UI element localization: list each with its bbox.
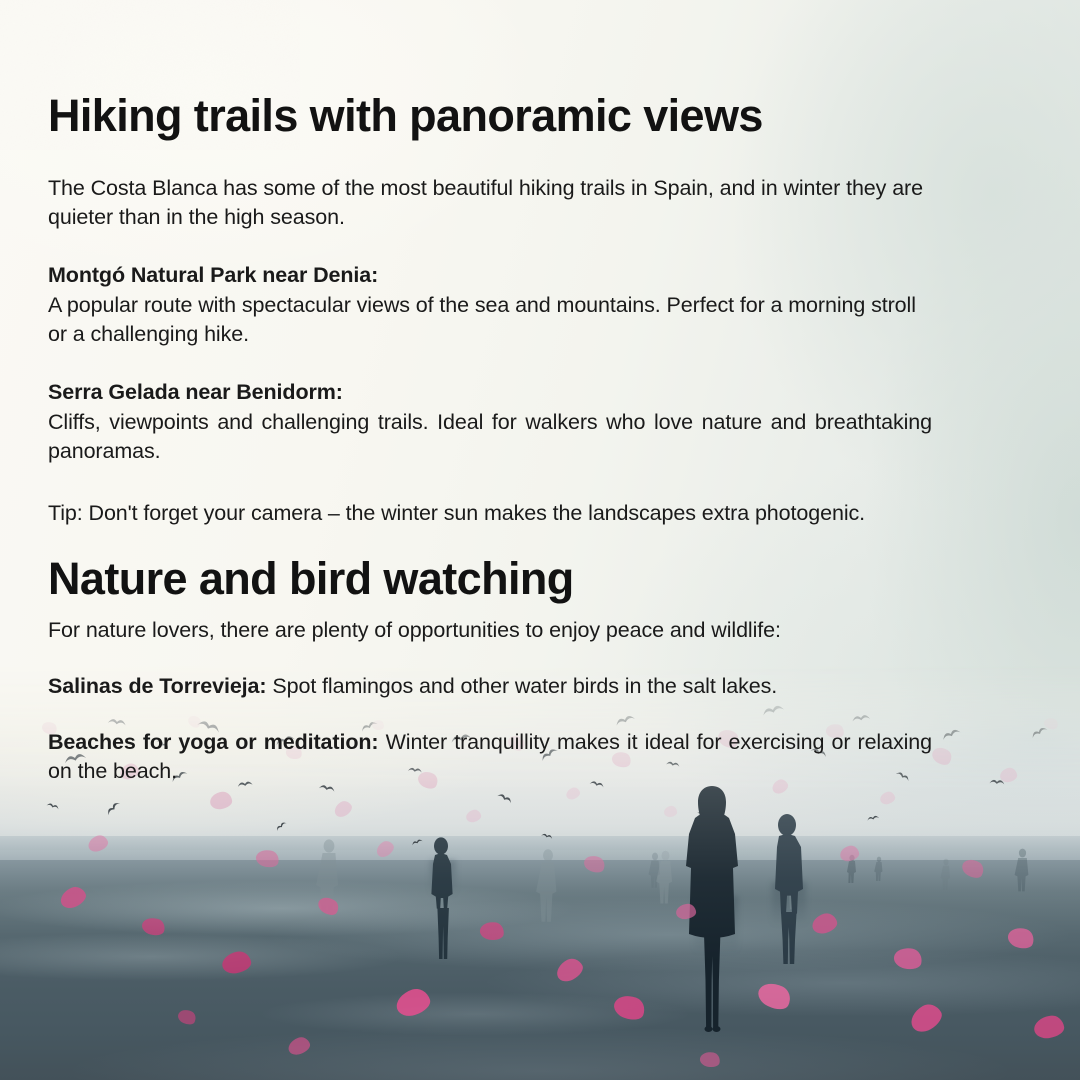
person-silhouette-distant bbox=[940, 858, 952, 890]
salinas-lead-in: Salinas de Torrevieja: bbox=[48, 674, 266, 698]
beaches-lead-in: Beaches for yoga or meditation: bbox=[48, 730, 378, 754]
nature-intro-paragraph: For nature lovers, there are plenty of o… bbox=[48, 616, 932, 646]
salinas-description: Spot flamingos and other water birds in … bbox=[266, 674, 777, 698]
person-silhouette-distant bbox=[1014, 848, 1031, 892]
person-silhouette-distant bbox=[874, 856, 884, 882]
section-heading-nature: Nature and bird watching bbox=[48, 555, 932, 603]
person-silhouette-mid bbox=[536, 848, 560, 924]
hiking-tip: Tip: Don't forget your camera – the wint… bbox=[48, 499, 932, 529]
montgo-description: A popular route with spectacular views o… bbox=[48, 291, 932, 350]
person-silhouette-distant bbox=[846, 854, 858, 884]
section-heading-hiking: Hiking trails with panoramic views bbox=[48, 92, 932, 140]
hiking-intro-paragraph: The Costa Blanca has some of the most be… bbox=[48, 174, 932, 233]
serra-gelada-description: Cliffs, viewpoints and challenging trail… bbox=[48, 408, 932, 467]
nature-item-beaches: Beaches for yoga or meditation: Winter t… bbox=[48, 728, 932, 787]
person-silhouette-walking-man bbox=[424, 836, 458, 960]
serra-gelada-lead-in: Serra Gelada near Benidorm: bbox=[48, 378, 932, 408]
person-silhouette-mid bbox=[656, 850, 675, 904]
hiking-item-serra-gelada: Serra Gelada near Benidorm: Cliffs, view… bbox=[48, 378, 932, 467]
social-card: Hiking trails with panoramic views The C… bbox=[0, 0, 1080, 1080]
person-silhouette-mid bbox=[316, 838, 342, 920]
hiking-item-montgo: Montgó Natural Park near Denia: A popula… bbox=[48, 261, 932, 350]
person-silhouette-main bbox=[676, 782, 748, 1032]
article-content: Hiking trails with panoramic views The C… bbox=[48, 0, 932, 787]
nature-item-salinas: Salinas de Torrevieja: Spot flamingos an… bbox=[48, 672, 932, 702]
montgo-lead-in: Montgó Natural Park near Denia: bbox=[48, 261, 932, 291]
person-silhouette-companion bbox=[764, 812, 810, 964]
